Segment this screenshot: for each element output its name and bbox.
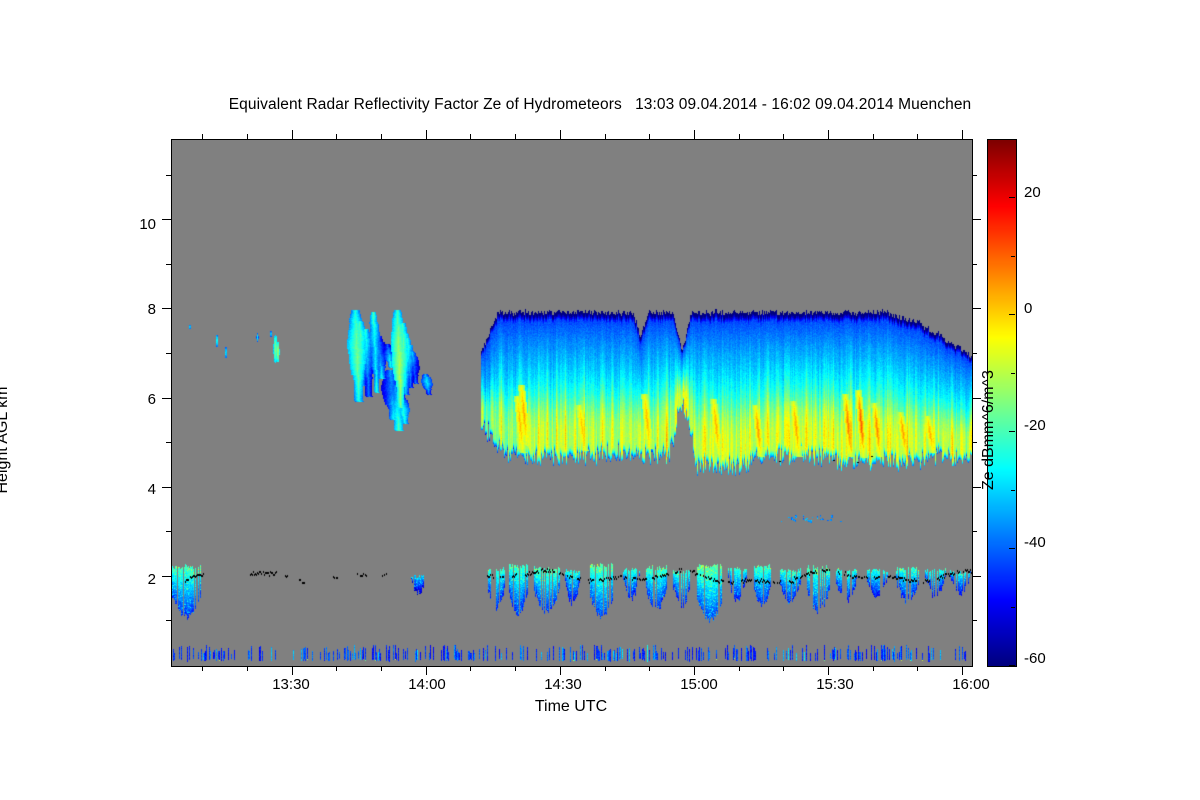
x-minor-tick: [515, 666, 516, 671]
colorbar-minor-tick: [1011, 256, 1015, 257]
colorbar-major-tick: [1009, 665, 1015, 666]
x-minor-tick-top: [739, 134, 740, 139]
x-minor-tick: [783, 666, 784, 671]
x-minor-tick-top: [783, 134, 784, 139]
x-minor-tick: [470, 666, 471, 671]
colorbar-tick-label--40: -40: [1024, 534, 1046, 551]
y-major-tick: [162, 398, 171, 399]
x-major-tick-top: [828, 130, 829, 139]
x-tick-label-1500: 15:00: [649, 676, 749, 693]
x-minor-tick: [739, 666, 740, 671]
y-major-tick: [162, 308, 171, 309]
x-tick-label-1530: 15:30: [785, 676, 885, 693]
y-major-tick: [162, 219, 171, 220]
y-major-tick: [162, 576, 171, 577]
colorbar-tick-label--60: -60: [1024, 650, 1046, 667]
y-major-tick: [162, 487, 171, 488]
colorbar-major-tick: [1009, 197, 1015, 198]
x-minor-tick-top: [649, 134, 650, 139]
x-minor-tick: [202, 666, 203, 671]
x-major-tick-top: [560, 130, 561, 139]
x-major-tick-top: [292, 130, 293, 139]
reflectivity-heatmap: [172, 140, 972, 666]
x-major-tick: [694, 666, 695, 675]
y-axis-title: Height AGL km: [0, 330, 12, 550]
x-tick-label-1600: 16:00: [921, 676, 1021, 693]
y-tick-label-4: 4: [110, 481, 156, 498]
x-tick-label-1330: 13:30: [241, 676, 341, 693]
y-tick-label-10: 10: [110, 216, 156, 233]
x-major-tick: [292, 666, 293, 675]
x-minor-tick: [649, 666, 650, 671]
x-minor-tick-top: [247, 134, 248, 139]
x-minor-tick-top: [336, 134, 337, 139]
page-title: Equivalent Radar Reflectivity Factor Ze …: [0, 96, 1200, 114]
x-minor-tick: [605, 666, 606, 671]
y-major-tick-right: [972, 219, 981, 220]
x-minor-tick-top: [470, 134, 471, 139]
y-minor-tick-right: [972, 264, 977, 265]
colorbar-tick-label--20: -20: [1024, 417, 1046, 434]
y-tick-label-8: 8: [110, 301, 156, 318]
y-tick-label-2: 2: [110, 571, 156, 588]
y-minor-tick: [166, 353, 171, 354]
plot-area: [171, 139, 973, 667]
x-axis-title: Time UTC: [171, 698, 971, 716]
x-minor-tick-top: [873, 134, 874, 139]
x-major-tick: [560, 666, 561, 675]
y-minor-tick: [166, 531, 171, 532]
y-minor-tick: [166, 442, 171, 443]
colorbar-title: Ze dBmm^6/m^3: [980, 300, 998, 560]
colorbar-minor-tick: [1011, 373, 1015, 374]
x-minor-tick-top: [202, 134, 203, 139]
y-minor-tick: [166, 264, 171, 265]
x-minor-tick: [873, 666, 874, 671]
x-minor-tick: [381, 666, 382, 671]
x-minor-tick: [247, 666, 248, 671]
y-minor-tick: [166, 620, 171, 621]
x-major-tick: [962, 666, 963, 675]
colorbar-major-tick: [1009, 314, 1015, 315]
x-major-tick: [426, 666, 427, 675]
y-minor-tick-right: [972, 620, 977, 621]
x-minor-tick-top: [917, 134, 918, 139]
x-major-tick-top: [962, 130, 963, 139]
x-minor-tick-top: [605, 134, 606, 139]
y-minor-tick: [166, 175, 171, 176]
x-major-tick-top: [426, 130, 427, 139]
x-major-tick-top: [694, 130, 695, 139]
colorbar-minor-tick: [1011, 607, 1015, 608]
y-major-tick-right: [972, 576, 981, 577]
x-minor-tick: [917, 666, 918, 671]
y-tick-label-6: 6: [110, 391, 156, 408]
y-minor-tick-right: [972, 353, 977, 354]
colorbar-minor-tick: [1011, 139, 1015, 140]
x-minor-tick-top: [515, 134, 516, 139]
colorbar-tick-label-20: 20: [1024, 184, 1041, 201]
colorbar-major-tick: [1009, 548, 1015, 549]
y-minor-tick-right: [972, 442, 977, 443]
x-minor-tick: [336, 666, 337, 671]
colorbar-tick-label-0: 0: [1024, 300, 1032, 317]
colorbar-major-tick: [1009, 431, 1015, 432]
colorbar-minor-tick: [1011, 490, 1015, 491]
radar-reflectivity-figure: Equivalent Radar Reflectivity Factor Ze …: [0, 0, 1200, 800]
x-tick-label-1400: 14:00: [377, 676, 477, 693]
x-tick-label-1430: 14:30: [513, 676, 613, 693]
y-minor-tick-right: [972, 175, 977, 176]
y-minor-tick-right: [972, 531, 977, 532]
x-major-tick: [828, 666, 829, 675]
x-minor-tick-top: [381, 134, 382, 139]
